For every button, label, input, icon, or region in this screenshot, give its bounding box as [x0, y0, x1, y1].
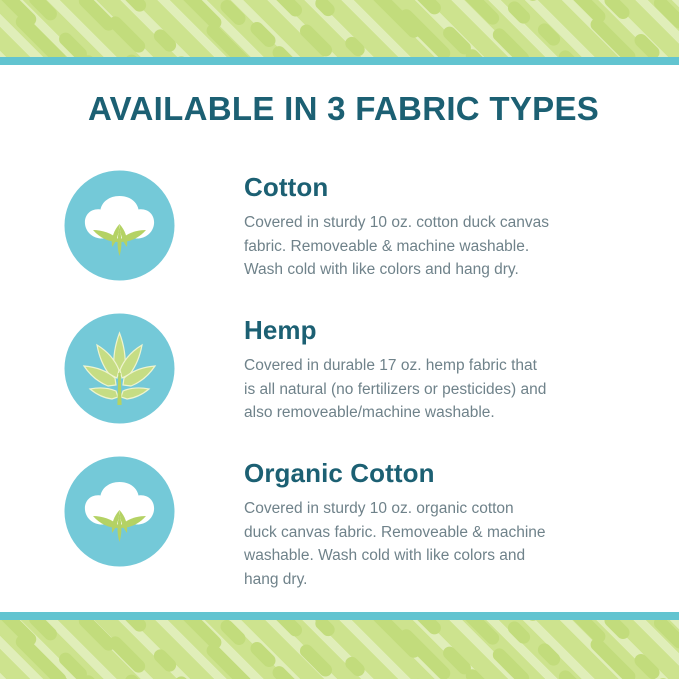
- feature-description: Covered in durable 17 oz. hemp fabric th…: [244, 354, 604, 425]
- feature-copy-organic-cotton: Organic Cotton Covered in sturdy 10 oz. …: [177, 454, 679, 591]
- cotton-boll-icon: [62, 168, 177, 283]
- bottom-accent-rule: [0, 612, 679, 620]
- bottom-pattern-band: [0, 620, 679, 679]
- top-pattern-band: [0, 0, 679, 57]
- feature-row-hemp: Hemp Covered in durable 17 oz. hemp fabr…: [0, 311, 679, 426]
- feature-description: Covered in sturdy 10 oz. organic cotton …: [244, 497, 604, 591]
- band-dash-pattern: [0, 0, 679, 57]
- feature-heading: Hemp: [244, 317, 679, 344]
- feature-description: Covered in sturdy 10 oz. cotton duck can…: [244, 211, 604, 282]
- feature-row-cotton: Cotton Covered in sturdy 10 oz. cotton d…: [0, 168, 679, 283]
- page-title: AVAILABLE IN 3 FABRIC TYPES: [88, 90, 628, 128]
- organic-cotton-boll-icon: [62, 454, 177, 569]
- feature-list: Cotton Covered in sturdy 10 oz. cotton d…: [0, 168, 679, 619]
- feature-row-organic-cotton: Organic Cotton Covered in sturdy 10 oz. …: [0, 454, 679, 591]
- fabric-types-infographic: AVAILABLE IN 3 FABRIC TYPES Cotton Cover…: [0, 0, 679, 679]
- hemp-leaf-icon: [62, 311, 177, 426]
- band-dash-pattern: [0, 620, 679, 679]
- feature-heading: Cotton: [244, 174, 679, 201]
- feature-copy-cotton: Cotton Covered in sturdy 10 oz. cotton d…: [177, 168, 679, 282]
- feature-heading: Organic Cotton: [244, 460, 679, 487]
- feature-copy-hemp: Hemp Covered in durable 17 oz. hemp fabr…: [177, 311, 679, 425]
- top-accent-rule: [0, 57, 679, 65]
